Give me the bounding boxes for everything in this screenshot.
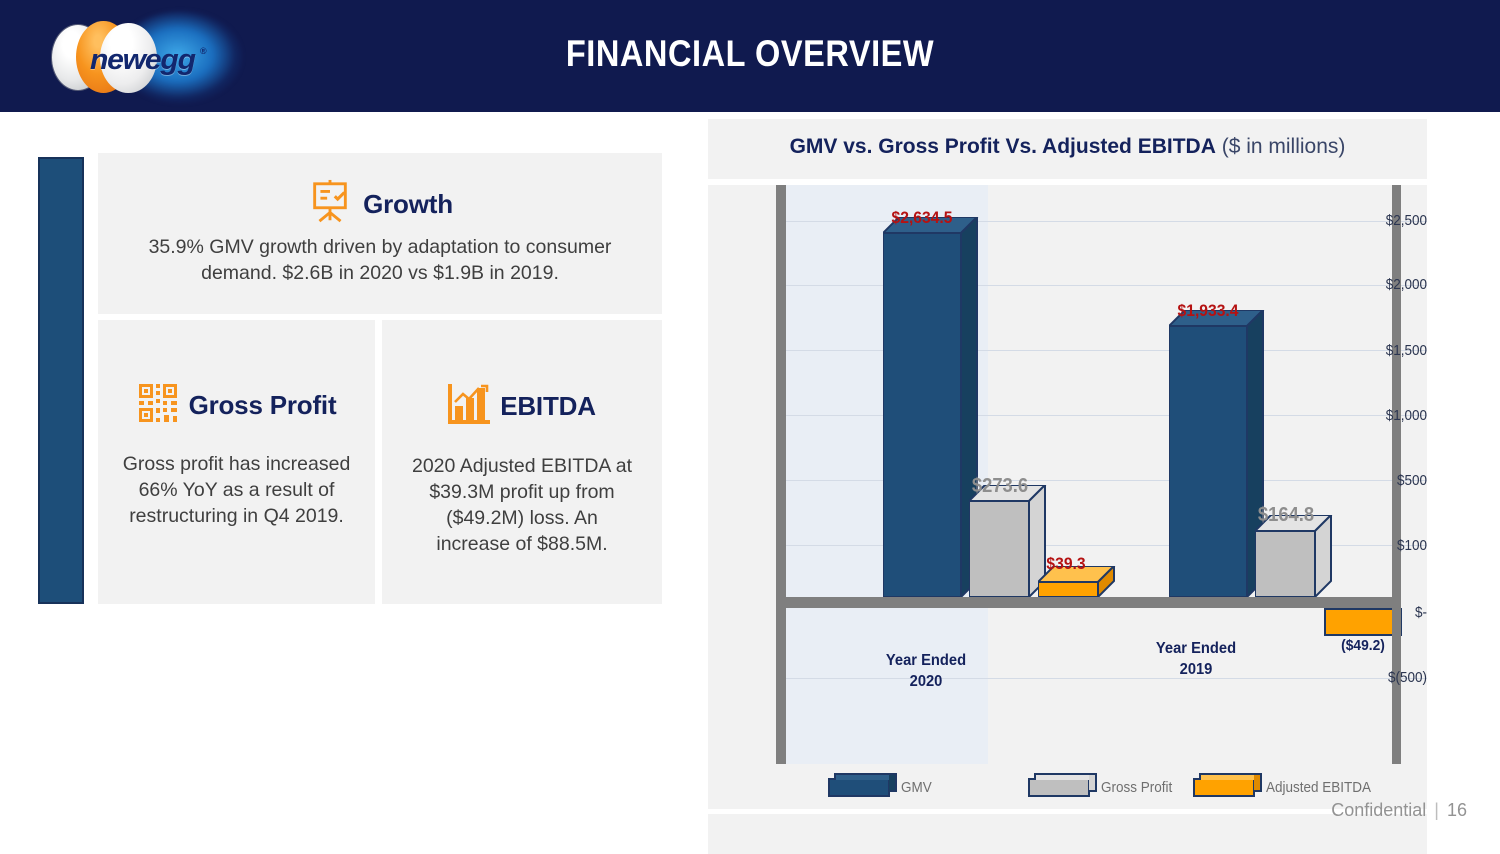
- card-ebitda-body: 2020 Adjusted EBITDA at $39.3M profit up…: [382, 453, 662, 557]
- legend-item-gmv[interactable]: GMV: [828, 778, 935, 797]
- slide-header: newegg ® FINANCIAL OVERVIEW: [0, 0, 1500, 112]
- bar-ebitda-2020[interactable]: [1038, 582, 1098, 597]
- chart-title-unit: ($ in millions): [1216, 135, 1346, 158]
- card-gross-profit-title: Gross Profit: [189, 390, 337, 421]
- bar-gross-profit-2020-shape: [969, 485, 1047, 597]
- legend-swatch-adjusted-ebitda: [1193, 778, 1255, 797]
- category-label-2019-line1: Year Ended: [1104, 638, 1288, 659]
- y-tick-label-500: $500: [1371, 472, 1427, 489]
- y-axis-line: [776, 185, 786, 764]
- bar-gross-profit-2019[interactable]: [1255, 531, 1315, 597]
- bar-gmv-2019-shape: [1169, 310, 1265, 597]
- bar-label-gross-profit-2019: $164.8: [1222, 504, 1351, 527]
- card-gross-profit-body: Gross profit has increased 66% YoY as a …: [98, 451, 375, 529]
- legend-swatch-gmv: [828, 778, 890, 797]
- y-tick-label-2000: $2,000: [1371, 276, 1427, 293]
- card-gross-profit: Gross Profit Gross profit has increased …: [98, 320, 375, 604]
- bar-gmv-2020[interactable]: [883, 233, 961, 597]
- bar-gmv-2020-shape: [883, 217, 979, 597]
- card-growth-title: Growth: [363, 189, 453, 220]
- bar-label-gmv-2020: $2,634.5: [854, 208, 990, 228]
- card-growth-header: Growth: [98, 179, 662, 230]
- bar-label-ebitda-2020: $39.3: [1006, 554, 1126, 574]
- y-tick-label-1000: $1,000: [1371, 407, 1427, 424]
- card-ebitda-title: EBITDA: [500, 391, 596, 422]
- qr-code-icon: [137, 382, 179, 429]
- bar-label-gmv-2019: $1,933.4: [1140, 301, 1276, 321]
- zero-baseline: [776, 597, 1401, 608]
- category-label-2020: Year Ended 2020: [834, 650, 1018, 692]
- page-title: FINANCIAL OVERVIEW: [90, 33, 1410, 75]
- legend-label-adjusted-ebitda: Adjusted EBITDA: [1266, 779, 1371, 796]
- left-accent-bar: [38, 157, 84, 604]
- card-ebitda-header: EBITDA: [382, 382, 662, 431]
- chart-footer-band: [708, 814, 1427, 854]
- y-tick-label-2500: $2,500: [1371, 212, 1427, 229]
- footer-confidential: Confidential: [1331, 800, 1426, 820]
- card-growth-body: 35.9% GMV growth driven by adaptation to…: [98, 234, 662, 286]
- bar-gross-profit-2019-shape: [1255, 515, 1333, 597]
- chart-plot-area: $2,634.5 $273.6 $39.3: [708, 185, 1427, 764]
- card-gross-profit-header: Gross Profit: [98, 382, 375, 429]
- bar-label-gross-profit-2020: $273.6: [936, 475, 1065, 498]
- slide-root: newegg ® FINANCIAL OVERVIEW Growth: [0, 0, 1500, 843]
- gridline-1000: [776, 415, 1427, 416]
- category-label-2020-line2: 2020: [834, 671, 1018, 692]
- legend-label-gmv: GMV: [901, 779, 932, 796]
- chart-title-main: GMV vs. Gross Profit Vs. Adjusted EBITDA: [790, 135, 1216, 158]
- presentation-board-check-icon: [307, 179, 353, 230]
- chart-legend: GMV Gross Profit Adjusted EBITDA: [708, 764, 1427, 809]
- card-growth: Growth 35.9% GMV growth driven by adapta…: [98, 153, 662, 314]
- category-label-2020-line1: Year Ended: [834, 650, 1018, 671]
- category-label-2019: Year Ended 2019: [1104, 638, 1288, 680]
- legend-item-gross-profit[interactable]: Gross Profit: [1028, 778, 1180, 797]
- chart-title: GMV vs. Gross Profit Vs. Adjusted EBITDA…: [708, 135, 1427, 159]
- slide-footer: Confidential|16: [1331, 800, 1467, 821]
- card-ebitda: EBITDA 2020 Adjusted EBITDA at $39.3M pr…: [382, 320, 662, 604]
- y-tick-label-minus500: $(500): [1371, 669, 1427, 686]
- gridline-2000: [776, 285, 1427, 286]
- legend-swatch-gross-profit: [1028, 778, 1090, 797]
- bar-chart-growth-icon: [448, 382, 490, 431]
- bar-gmv-2019[interactable]: [1169, 326, 1247, 597]
- legend-item-adjusted-ebitda[interactable]: Adjusted EBITDA: [1193, 778, 1383, 797]
- footer-page-number: 16: [1447, 800, 1467, 820]
- category-label-2019-line2: 2019: [1104, 659, 1288, 680]
- bar-gross-profit-2020[interactable]: [969, 501, 1029, 597]
- chart-panel: GMV vs. Gross Profit Vs. Adjusted EBITDA…: [708, 119, 1427, 825]
- y-tick-label-100: $100: [1371, 537, 1427, 554]
- gridline-500: [776, 480, 1427, 481]
- legend-label-gross-profit: Gross Profit: [1101, 779, 1172, 796]
- y-tick-label-zero: $-: [1371, 604, 1427, 621]
- y-tick-label-1500: $1,500: [1371, 342, 1427, 359]
- gridline-1500: [776, 350, 1427, 351]
- footer-separator: |: [1434, 800, 1439, 820]
